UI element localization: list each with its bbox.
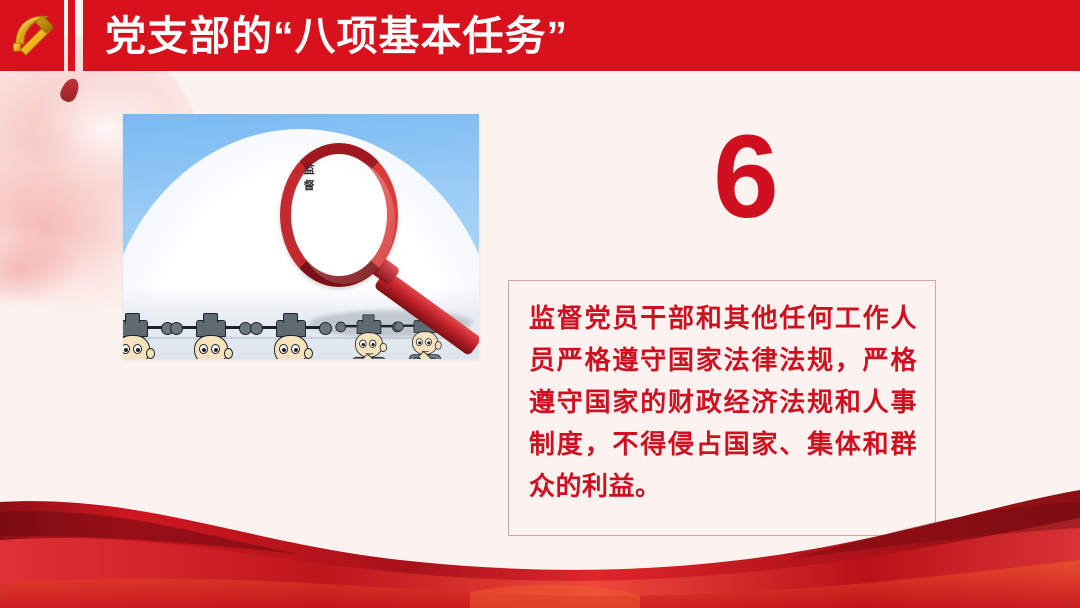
red-silk-ribbon-wave [0, 488, 1080, 608]
hammer-and-sickle-party-emblem-icon [4, 2, 62, 66]
red-petal-accent [58, 76, 82, 104]
supervision-cartoon-illustration: 监督 [123, 114, 479, 359]
page-title: 党支部的“八项基本任务” [105, 2, 568, 70]
task-description-text: 监督党员干部和其他任何工作人员严格遵守国家法律法规，严格遵守国家的财政经济法规和… [529, 297, 917, 507]
header-tick-bar [68, 0, 75, 71]
slide-header: 党支部的“八项基本任务” [0, 0, 1080, 71]
magnifier-caption: 监督 [304, 161, 316, 193]
magnifier-ring [280, 143, 398, 287]
task-number: 6 [660, 118, 830, 236]
slide-canvas: 党支部的“八项基本任务” [0, 0, 1080, 608]
pink-watercolor-blob [0, 228, 84, 314]
